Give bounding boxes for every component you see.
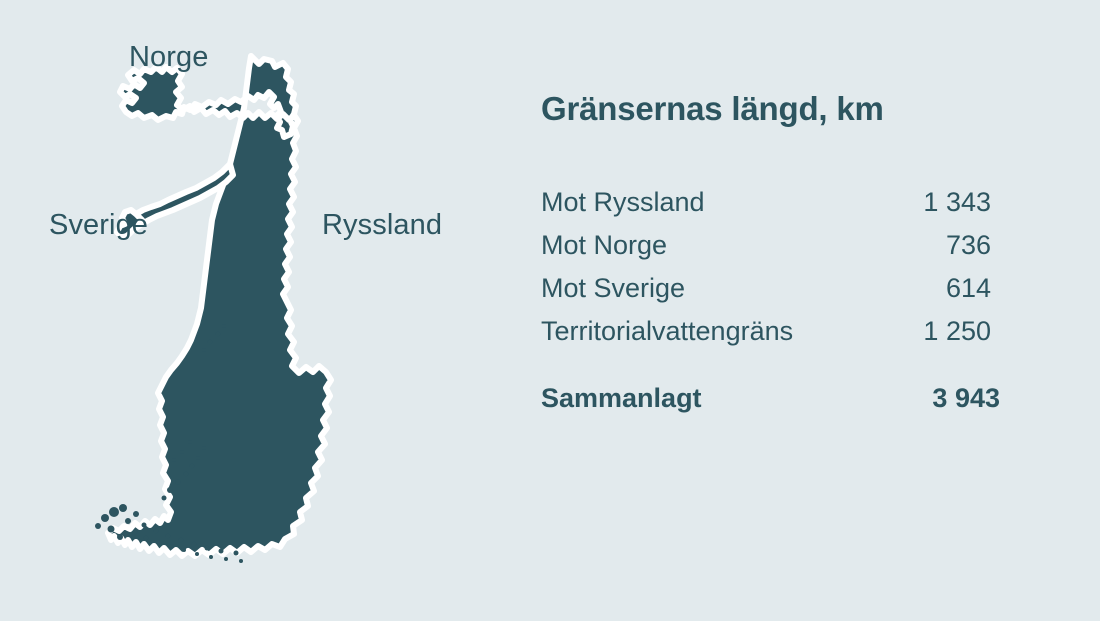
- table-row: Mot Norge 736: [541, 229, 1000, 272]
- map-label-norge: Norge: [129, 41, 209, 74]
- map-label-ryssland: Ryssland: [322, 209, 442, 242]
- finland-landmass-path: [108, 56, 331, 556]
- finland-map-graphic: [78, 42, 378, 582]
- total-label: Sammanlagt: [541, 382, 702, 415]
- row-value: 614: [946, 272, 991, 305]
- border-rows-list: Mot Ryssland 1 343 Mot Norge 736 Mot Sve…: [541, 186, 1000, 358]
- infographic-canvas: Norge Sverige Ryssland Gränsernas längd,…: [0, 0, 1100, 621]
- row-value: 1 343: [923, 186, 991, 219]
- row-value: 736: [946, 229, 991, 262]
- total-value: 3 943: [932, 382, 1000, 415]
- row-label: Mot Ryssland: [541, 186, 705, 219]
- finland-map-svg: [78, 42, 378, 582]
- panel-title: Gränsernas längd, km: [541, 90, 884, 128]
- map-panel: Norge Sverige Ryssland: [0, 0, 500, 621]
- table-row: Mot Ryssland 1 343: [541, 186, 1000, 229]
- row-label: Territorialvattengräns: [541, 315, 793, 348]
- table-row: Mot Sverige 614: [541, 272, 1000, 315]
- row-value: 1 250: [923, 315, 991, 348]
- row-label: Mot Norge: [541, 229, 667, 262]
- map-label-sverige: Sverige: [49, 209, 148, 242]
- finland-landmass-group: [108, 56, 331, 556]
- table-row: Territorialvattengräns 1 250: [541, 315, 1000, 358]
- border-length-panel: Gränsernas längd, km Mot Ryssland 1 343 …: [541, 0, 1011, 621]
- total-row: Sammanlagt 3 943: [541, 382, 1000, 422]
- row-label: Mot Sverige: [541, 272, 685, 305]
